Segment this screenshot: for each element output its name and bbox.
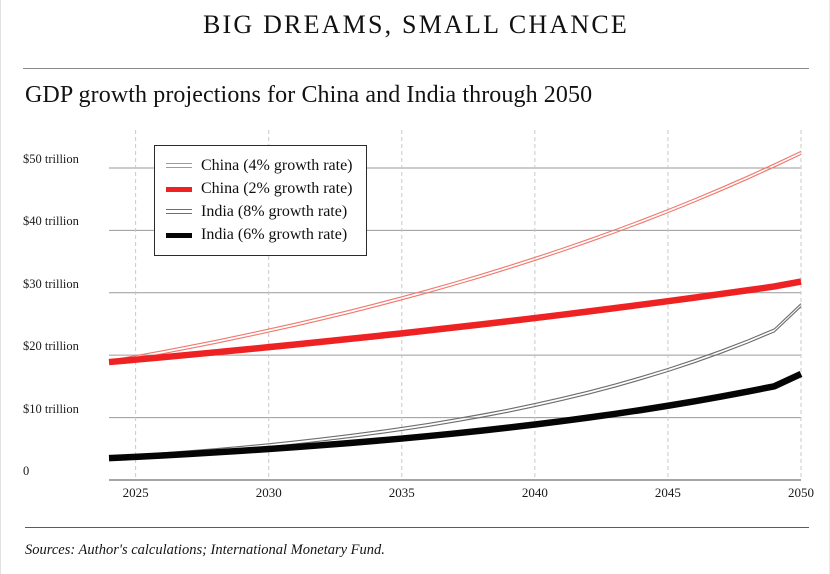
legend-item[interactable]: India (8% growth rate) [166, 200, 353, 223]
legend-item-label: China (4% growth rate) [201, 157, 353, 175]
y-tick-label: $20 trillion [23, 340, 79, 353]
legend-item[interactable]: China (2% growth rate) [166, 177, 353, 200]
gdp-projection-chart: 0$10 trillion$20 trillion$30 trillion$40… [1, 130, 830, 500]
page-title: BIG DREAMS, SMALL CHANCE [1, 8, 830, 42]
x-tick-label: 2025 [123, 485, 149, 501]
legend-item[interactable]: India (6% growth rate) [166, 223, 353, 246]
legend-item-label: China (2% growth rate) [201, 180, 353, 198]
source-note: Sources: Author's calculations; Internat… [25, 540, 385, 560]
chart-legend: China (4% growth rate)China (2% growth r… [154, 145, 367, 256]
legend-item-label: India (6% growth rate) [201, 226, 347, 244]
legend-swatch-icon [166, 159, 192, 173]
y-tick-label: $10 trillion [23, 403, 79, 416]
y-tick-label: $30 trillion [23, 278, 79, 291]
legend-swatch-icon [166, 228, 192, 242]
x-tick-label: 2030 [256, 485, 282, 501]
x-tick-label: 2045 [655, 485, 681, 501]
series-line-3 [109, 374, 801, 458]
chart-page: BIG DREAMS, SMALL CHANCE GDP growth proj… [0, 0, 830, 574]
page-subtitle: GDP growth projections for China and Ind… [25, 78, 815, 112]
x-tick-label: 2050 [788, 485, 814, 501]
footer-divider [25, 527, 809, 528]
series-line-1 [109, 282, 801, 363]
legend-swatch-icon [166, 182, 192, 196]
x-tick-label: 2040 [522, 485, 548, 501]
y-tick-label: 0 [23, 465, 29, 478]
y-tick-label: $50 trillion [23, 153, 79, 166]
legend-item-label: India (8% growth rate) [201, 203, 347, 221]
y-tick-label: $40 trillion [23, 215, 79, 228]
x-tick-label: 2035 [389, 485, 415, 501]
legend-swatch-icon [166, 205, 192, 219]
header-divider [23, 68, 809, 69]
legend-item[interactable]: China (4% growth rate) [166, 154, 353, 177]
